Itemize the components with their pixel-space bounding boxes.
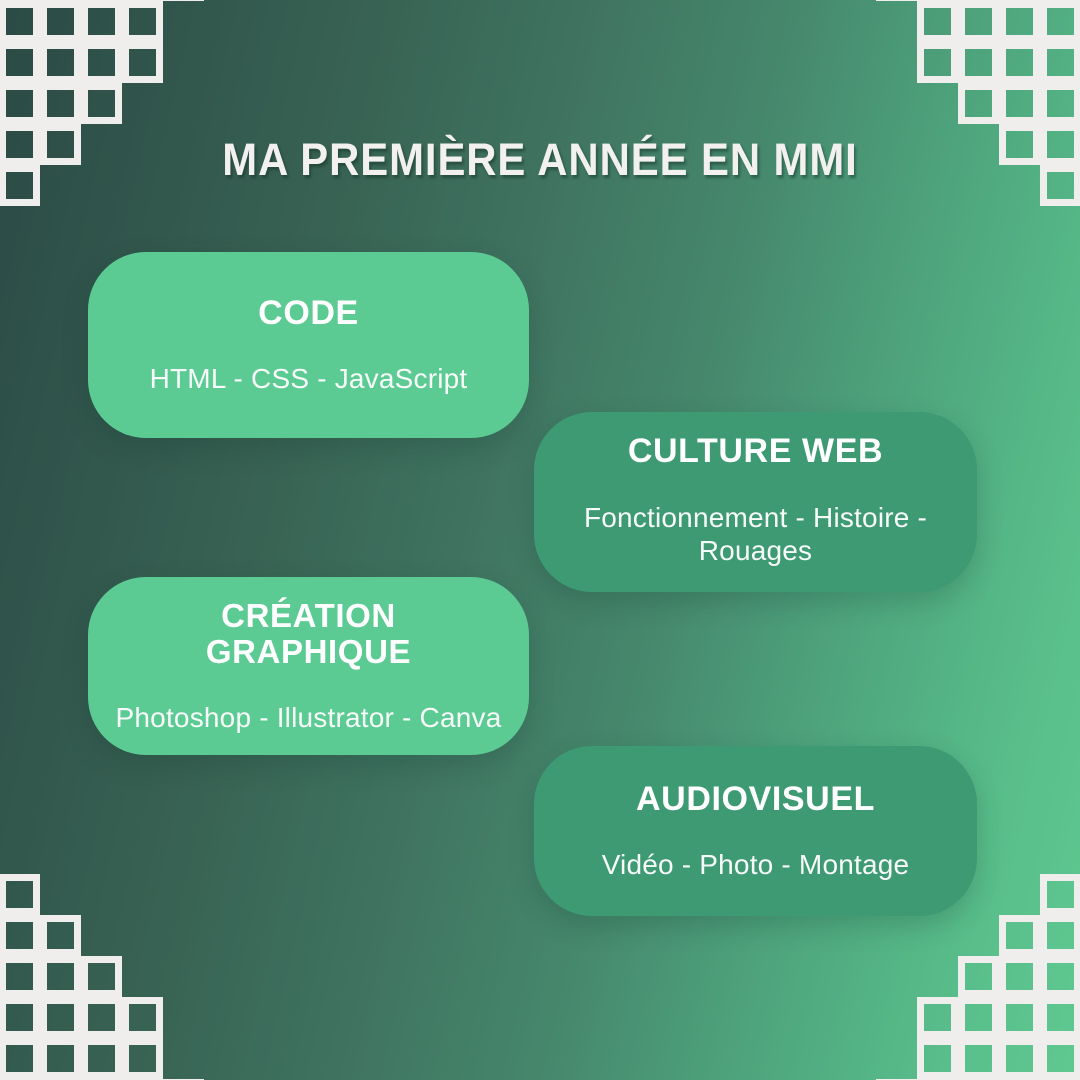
corner-pattern-top-left (0, 0, 258, 260)
card-creation-graphique-subtitle: Photoshop - Illustrator - Canva (116, 701, 502, 734)
card-creation-graphique-title: CRÉATION GRAPHIQUE (114, 598, 503, 671)
page-title: MA PREMIÈRE ANNÉE EN MMI (38, 134, 1042, 186)
poster-canvas: MA PREMIÈRE ANNÉE EN MMI CODE HTML - CSS… (0, 0, 1080, 1080)
card-code[interactable]: CODE HTML - CSS - JavaScript (88, 252, 529, 438)
card-creation-graphique[interactable]: CRÉATION GRAPHIQUE Photoshop - Illustrat… (88, 577, 529, 755)
card-code-title: CODE (258, 295, 359, 332)
card-audiovisuel-title: AUDIOVISUEL (636, 781, 875, 818)
card-culture-web[interactable]: CULTURE WEB Fonctionnement - Histoire - … (534, 412, 977, 592)
card-audiovisuel[interactable]: AUDIOVISUEL Vidéo - Photo - Montage (534, 746, 977, 916)
card-culture-web-subtitle: Fonctionnement - Histoire - Rouages (560, 501, 951, 567)
card-code-subtitle: HTML - CSS - JavaScript (150, 362, 468, 395)
corner-pattern-top-right (822, 0, 1080, 260)
corner-pattern-bottom-left (0, 820, 258, 1080)
card-audiovisuel-subtitle: Vidéo - Photo - Montage (602, 848, 910, 881)
card-culture-web-title: CULTURE WEB (628, 433, 883, 470)
